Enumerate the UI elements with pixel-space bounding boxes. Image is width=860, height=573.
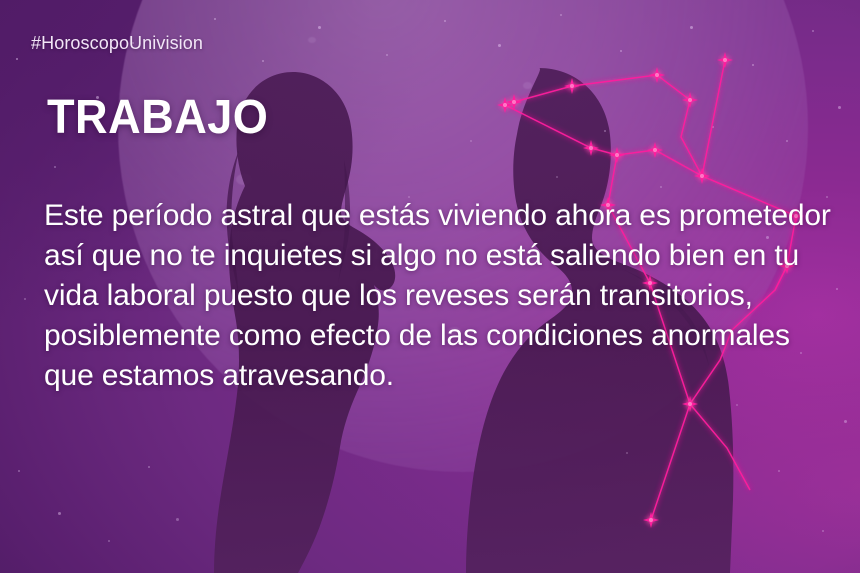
horoscope-body-text: Este período astral que estás viviendo a…	[44, 196, 839, 396]
page-title: TRABAJO	[47, 90, 268, 145]
horoscope-card: #HoroscopoUnivision TRABAJO Este período…	[0, 0, 860, 573]
hashtag-label: #HoroscopoUnivision	[31, 33, 203, 54]
